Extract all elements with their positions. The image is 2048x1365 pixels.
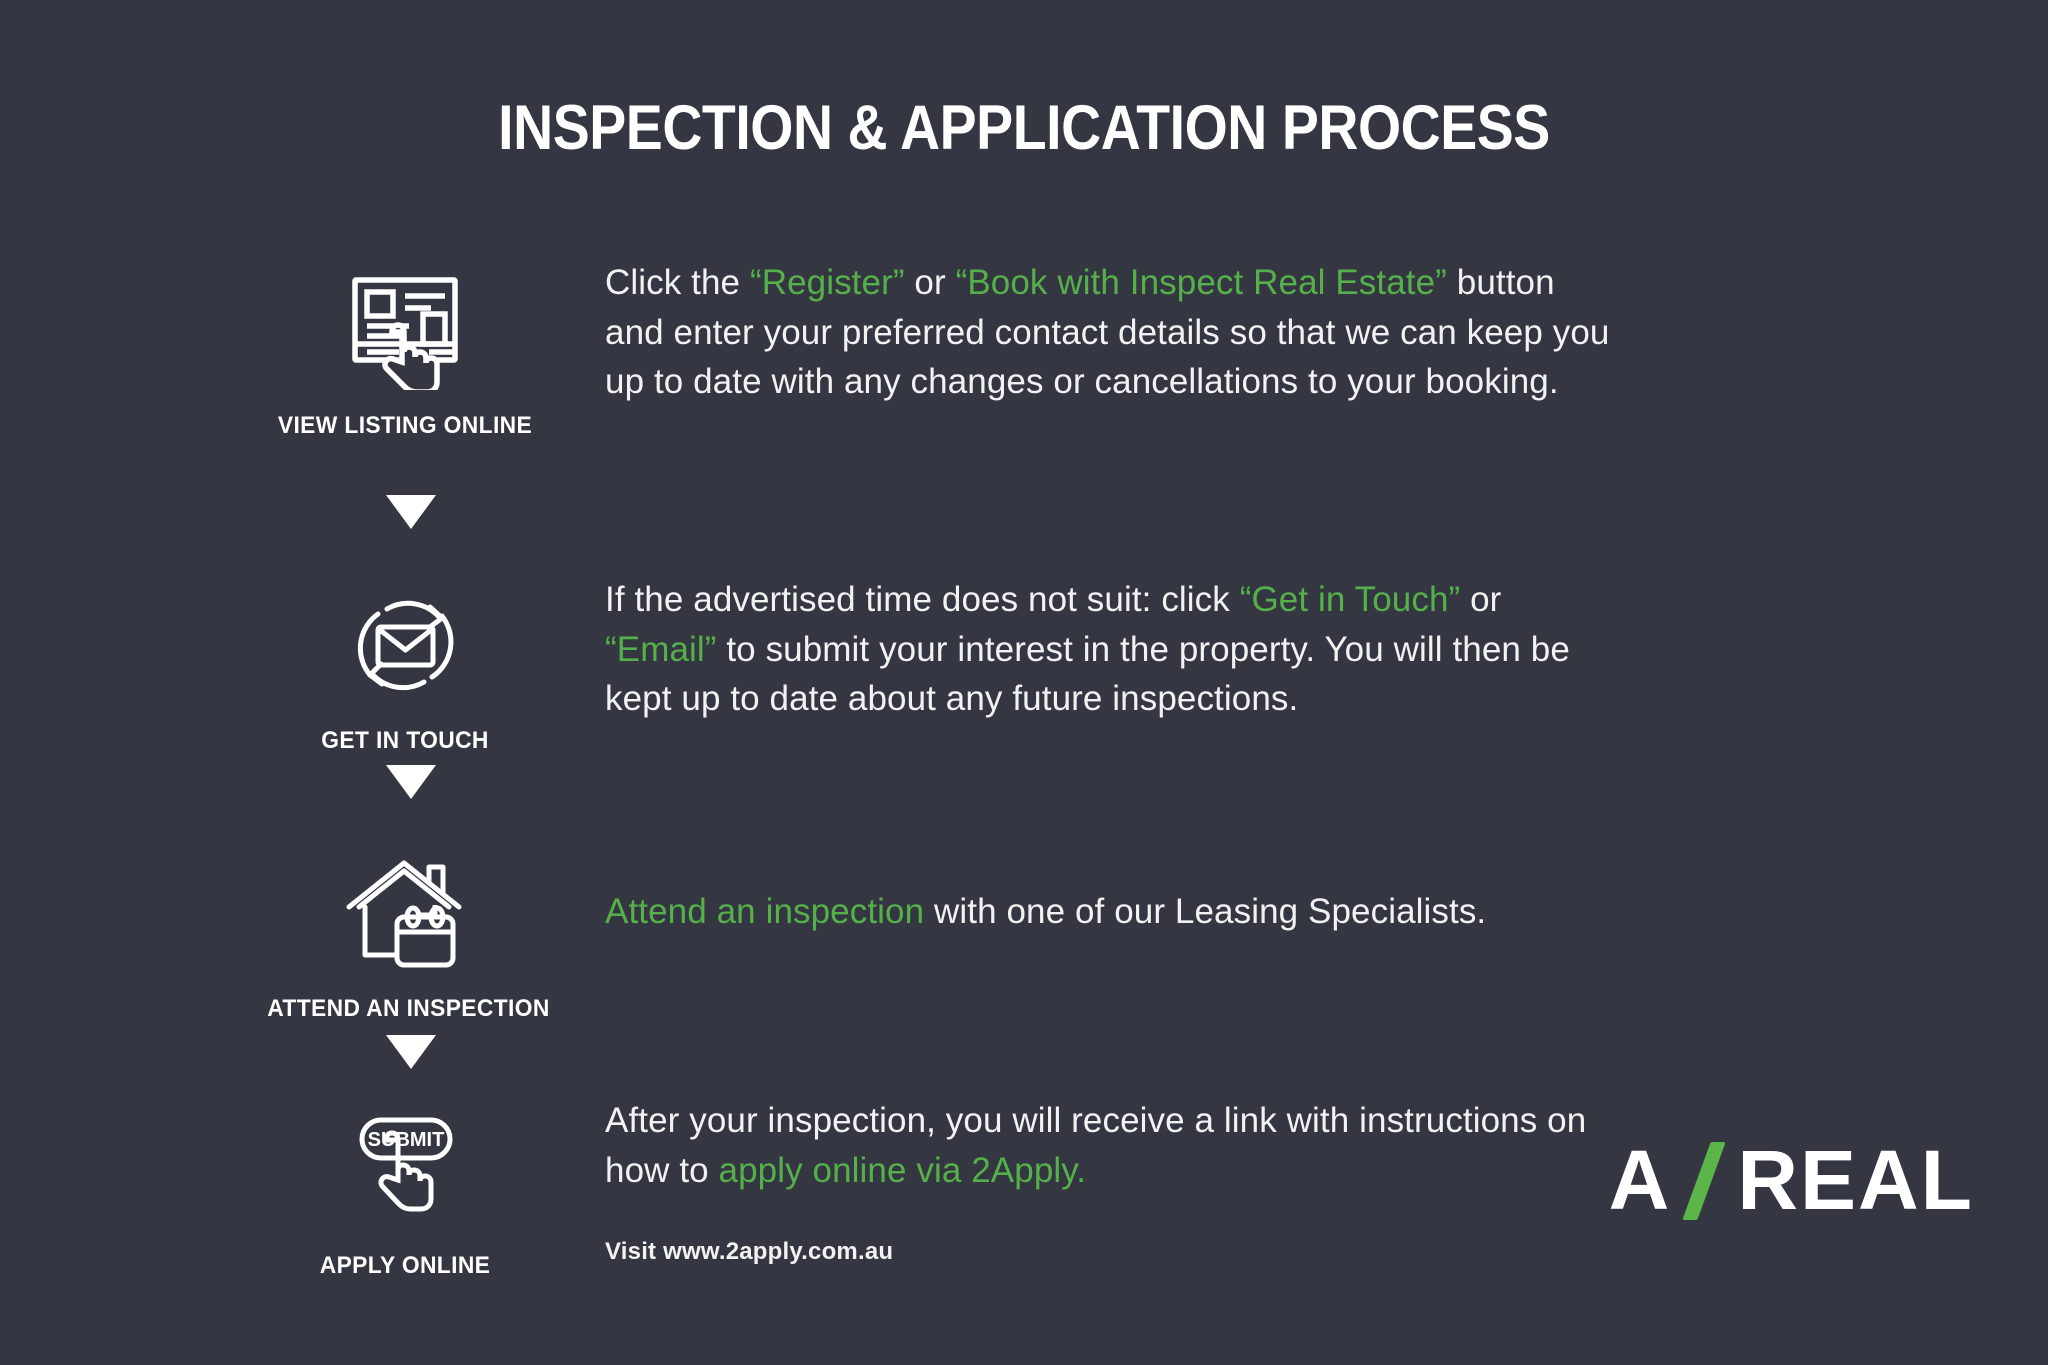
step-3-icon-column: ATTEND AN INSPECTION xyxy=(260,853,550,1023)
step-3-text-part-1: with one of our Leasing Specialists. xyxy=(924,892,1486,931)
step-3-highlight-attend-an-inspection: Attend an inspection xyxy=(605,892,924,931)
logo-slash-icon xyxy=(1671,1138,1737,1222)
arrow-step2-to-step3 xyxy=(386,765,436,799)
step-1-highlight-register: “Register” xyxy=(750,263,905,302)
visit-url-line: Visit www.2apply.com.au xyxy=(605,1235,1615,1269)
house-calendar-icon xyxy=(260,853,550,975)
arrow-step1-to-step2 xyxy=(386,495,436,529)
page-title: INSPECTION & APPLICATION PROCESS xyxy=(123,92,1925,164)
step-2-label: GET IN TOUCH xyxy=(267,727,543,755)
step-3-body: Attend an inspection with one of our Lea… xyxy=(605,887,1615,937)
step-2-highlight-get-in-touch: “Get in Touch” xyxy=(1240,580,1461,619)
arrow-step3-to-step4 xyxy=(386,1035,436,1069)
step-1-text-part-1: Click the xyxy=(605,263,750,302)
logo-word-real: REAL xyxy=(1737,1138,1974,1222)
step-1-text-part-2: or xyxy=(905,263,956,302)
step-1-icon-column: VIEW LISTING ONLINE xyxy=(260,270,550,440)
brand-logo: A REAL xyxy=(1609,1140,1974,1220)
step-2-text-part-2: or xyxy=(1460,580,1501,619)
step-2-highlight-email: “Email” xyxy=(605,630,717,669)
step-1-highlight-book-with-inspect-real-estate: “Book with Inspect Real Estate” xyxy=(956,263,1447,302)
step-2-icon-column: GET IN TOUCH xyxy=(260,585,550,755)
step-1-body: Click the “Register” or “Book with Inspe… xyxy=(605,258,1615,407)
logo-letter-a: A xyxy=(1609,1138,1672,1222)
step-2-body: If the advertised time does not suit: cl… xyxy=(605,575,1615,724)
step-2-text-part-3: to submit your interest in the property.… xyxy=(605,630,1570,719)
svg-text:SUBMIT: SUBMIT xyxy=(368,1129,445,1151)
step-3-label: ATTEND AN INSPECTION xyxy=(267,995,543,1023)
step-4-label: APPLY ONLINE xyxy=(267,1252,543,1280)
submit-button-cursor-icon: SUBMIT xyxy=(260,1110,550,1232)
infographic-root: INSPECTION & APPLICATION PROCESS xyxy=(0,0,2048,1365)
listing-window-cursor-icon xyxy=(260,270,550,392)
step-4-body: After your inspection, you will receive … xyxy=(605,1096,1615,1269)
step-1-label: VIEW LISTING ONLINE xyxy=(267,412,543,440)
step-4-highlight-apply-online-via-2apply: apply online via 2Apply. xyxy=(719,1151,1087,1190)
envelope-refresh-icon xyxy=(260,585,550,707)
step-2-text-part-1: If the advertised time does not suit: cl… xyxy=(605,580,1240,619)
step-4-icon-column: SUBMIT APPLY ONLINE xyxy=(260,1110,550,1280)
